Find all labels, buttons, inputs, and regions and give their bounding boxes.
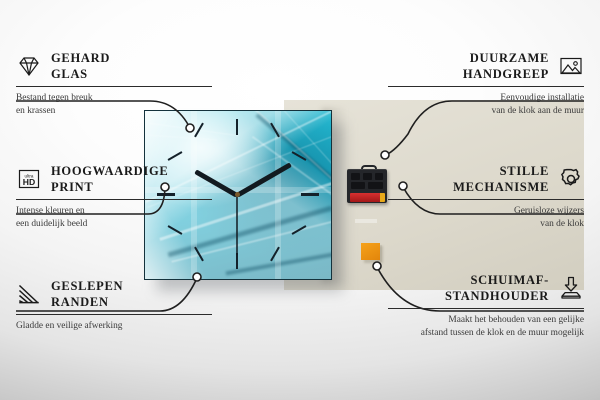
feature-subtitle-line1: Geruisloze wijzers [388, 205, 584, 218]
feature-subtitle-line2: van de klok [388, 218, 584, 231]
feature-subtitle-line2: en krassen [16, 105, 212, 118]
infographic-canvas: GEHARD GLAS Bestand tegen breuk en krass… [0, 0, 600, 400]
feature-subtitle-line2: een duidelijk beeld [16, 218, 212, 231]
picture-frame-icon [558, 53, 584, 79]
feature-stille-mechanisme: STILLE MECHANISME Geruisloze wijzers van… [388, 163, 584, 230]
feature-divider [388, 308, 584, 309]
feature-divider [388, 86, 584, 87]
feature-subtitle-line2: afstand tussen de klok en de muur mogeli… [388, 327, 584, 340]
clock-tick-10 [168, 151, 183, 161]
feature-title: STILLE MECHANISME [453, 163, 549, 195]
clock-second-hand [236, 195, 238, 255]
feature-title-line2: PRINT [51, 179, 168, 195]
feature-title: GESLEPEN RANDEN [51, 278, 123, 310]
feature-title-line2: RANDEN [51, 294, 123, 310]
feature-subtitle-line1: Gladde en veilige afwerking [16, 320, 212, 333]
artwork-streak [147, 135, 217, 141]
feature-divider [16, 86, 212, 87]
ultra-hd-icon-bottom-text: HD [23, 177, 35, 187]
feature-title-line1: DUURZAME [463, 50, 549, 66]
feature-title-line2: STANDHOUDER [445, 288, 549, 304]
mechanism-detail [368, 182, 383, 189]
feature-title: GEHARD GLAS [51, 50, 110, 82]
diamond-icon [16, 53, 42, 79]
feature-subtitle: Eenvoudige installatie van de klok aan d… [388, 92, 584, 117]
mechanism-body [347, 169, 387, 203]
clock-tick-6 [236, 253, 238, 269]
feature-title: HOOGWAARDIGE PRINT [51, 163, 168, 195]
feature-heading: SCHUIMAF- STANDHOUDER [388, 272, 584, 304]
feature-title-line2: MECHANISME [453, 179, 549, 195]
feature-gehard-glas: GEHARD GLAS Bestand tegen breuk en krass… [16, 50, 212, 117]
feature-hoogwaardige-print: ultra HD HOOGWAARDIGE PRINT Intense kleu… [16, 163, 212, 230]
feature-subtitle-line2: van de klok aan de muur [388, 105, 584, 118]
mechanism-detail [351, 173, 360, 180]
foam-spacer [361, 243, 380, 260]
feature-divider [388, 199, 584, 200]
feature-title-line2: GLAS [51, 66, 110, 82]
clock-mechanism [347, 165, 387, 203]
feature-title-line1: SCHUIMAF- [445, 272, 549, 288]
feature-subtitle: Intense kleuren en een duidelijk beeld [16, 205, 212, 230]
feature-heading: STILLE MECHANISME [388, 163, 584, 195]
feature-divider [16, 314, 212, 315]
feature-heading: GESLEPEN RANDEN [16, 278, 212, 310]
mechanism-detail [375, 173, 383, 180]
battery-positive-terminal [380, 193, 385, 202]
ultra-hd-icon: ultra HD [16, 166, 42, 192]
clock-center-pin [235, 192, 240, 197]
beveled-edge-icon [16, 281, 42, 307]
feature-schuimaf-standhouder: SCHUIMAF- STANDHOUDER Maakt het behouden… [388, 272, 584, 339]
feature-subtitle: Gladde en veilige afwerking [16, 320, 212, 333]
feature-title-line2: HANDGREEP [463, 66, 549, 82]
feature-subtitle: Bestand tegen breuk en krassen [16, 92, 212, 117]
feature-title: DUURZAME HANDGREEP [463, 50, 549, 82]
feature-title-line1: GESLEPEN [51, 278, 123, 294]
feature-divider [16, 199, 212, 200]
feature-title-line1: HOOGWAARDIGE [51, 163, 168, 179]
mechanism-detail [363, 173, 372, 180]
feature-heading: DUURZAME HANDGREEP [388, 50, 584, 82]
feature-geslepen-randen: GESLEPEN RANDEN Gladde en veilige afwerk… [16, 278, 212, 333]
feature-subtitle-line1: Maakt het behouden van een gelijke [388, 314, 584, 327]
mechanism-battery [350, 193, 382, 202]
feature-subtitle: Geruisloze wijzers van de klok [388, 205, 584, 230]
feature-subtitle: Maakt het behouden van een gelijke afsta… [388, 314, 584, 339]
gear-icon [558, 166, 584, 192]
feature-subtitle-line1: Intense kleuren en [16, 205, 212, 218]
battery-label-strip [355, 219, 377, 223]
feature-title: SCHUIMAF- STANDHOUDER [445, 272, 549, 304]
feature-subtitle-line1: Eenvoudige installatie [388, 92, 584, 105]
clock-tick-12 [236, 119, 238, 135]
feature-subtitle-line1: Bestand tegen breuk [16, 92, 212, 105]
feature-title-line1: STILLE [453, 163, 549, 179]
feature-duurzame-handgreep: DUURZAME HANDGREEP Eenvoudige installati… [388, 50, 584, 117]
mechanism-detail [351, 182, 365, 189]
clock-tick-3 [301, 193, 319, 196]
press-down-icon [558, 275, 584, 301]
feature-heading: GEHARD GLAS [16, 50, 212, 82]
feature-heading: ultra HD HOOGWAARDIGE PRINT [16, 163, 212, 195]
feature-title-line1: GEHARD [51, 50, 110, 66]
